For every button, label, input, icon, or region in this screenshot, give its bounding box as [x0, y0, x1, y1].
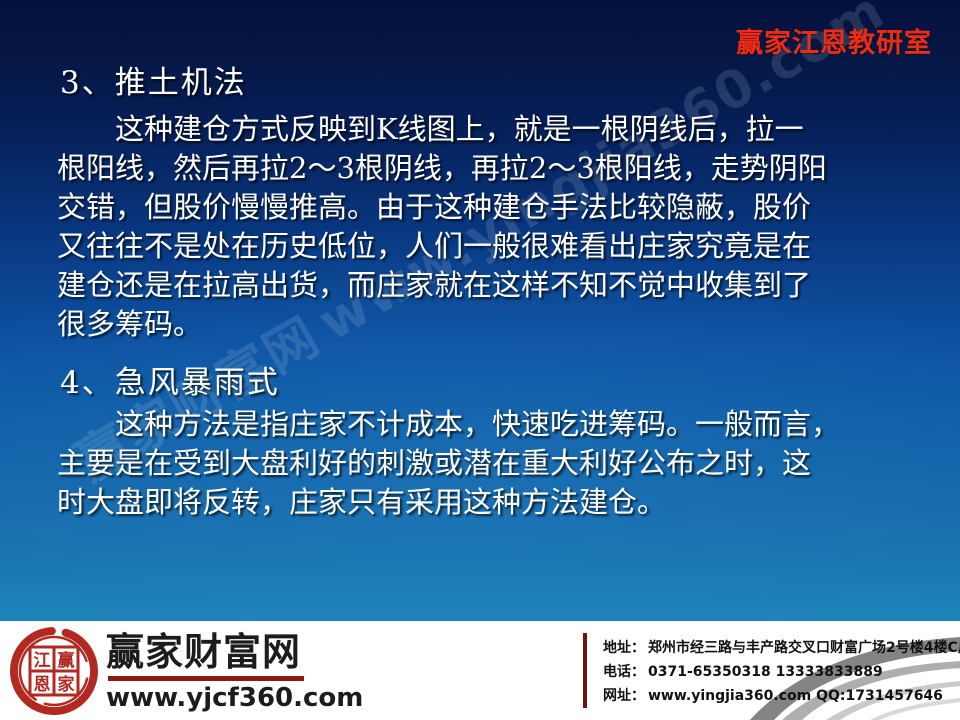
- contact-value[interactable]: www.yingjia360.com QQ:1731457646: [648, 688, 943, 704]
- paragraph-line: 根阳线，然后再拉2～3根阴线，再拉2～3根阳线，走势阴阳: [57, 149, 937, 188]
- contact-label: 电话：: [603, 664, 645, 680]
- slide: 赢家财富网www.yingjia360.com 赢家江恩教研室 3、推土机法 这…: [0, 0, 960, 720]
- section-paragraph-4: 这种方法是指庄家不计成本，快速吃进筹码。一般而言， 主要是在受到大盘利好的刺激或…: [57, 405, 937, 522]
- contact-row-website: 网址：www.yingjia360.com QQ:1731457646: [603, 684, 960, 708]
- contact-label: 地址：: [603, 640, 645, 656]
- section-paragraph-3: 这种建仓方式反映到K线图上，就是一根阴线后，拉一 根阳线，然后再拉2～3根阴线，…: [57, 110, 937, 344]
- content-panel: 赢家财富网www.yingjia360.com 赢家江恩教研室 3、推土机法 这…: [0, 0, 960, 621]
- section-heading-3: 3、推土机法: [60, 57, 247, 102]
- contact-row-phone: 电话：0371-65350318 13333833889: [603, 660, 960, 684]
- company-seal-icon: 江 赢 恩 家: [8, 625, 100, 717]
- paragraph-line: 很多筹码。: [57, 305, 937, 344]
- paragraph-line: 又往往不是处在历史低位，人们一般很难看出庄家究竟是在: [57, 227, 937, 266]
- section-heading-4: 4、急风暴雨式: [60, 357, 280, 402]
- svg-text:江: 江: [34, 651, 51, 671]
- contact-label: 网址：: [603, 688, 645, 704]
- brand-name: 赢家财富网: [106, 630, 363, 674]
- paragraph-line: 这种建仓方式反映到K线图上，就是一根阴线后，拉一: [57, 110, 937, 149]
- paragraph-line: 时大盘即将反转，庄家只有采用这种方法建仓。: [57, 483, 937, 522]
- contact-divider: [583, 633, 587, 708]
- contact-value: 0371-65350318 13333833889: [648, 664, 883, 680]
- brand-divider: [108, 676, 304, 681]
- contact-lines: 地址：郑州市经三路与丰产路交叉口财富广场2号楼4楼C户 电话：0371-6535…: [603, 633, 960, 708]
- contact-block: 地址：郑州市经三路与丰产路交叉口财富广场2号楼4楼C户 电话：0371-6535…: [583, 633, 960, 708]
- footer: 江 赢 恩 家 赢家财富网 www.yjcf360.com 地址：郑州市经三路与…: [0, 621, 960, 720]
- paragraph-line: 主要是在受到大盘利好的刺激或潜在重大利好公布之时，这: [57, 444, 937, 483]
- header-title: 赢家江恩教研室: [736, 21, 932, 60]
- svg-text:恩: 恩: [34, 675, 51, 695]
- brand-text-block: 赢家财富网 www.yjcf360.com: [106, 630, 363, 713]
- brand-block: 江 赢 恩 家 赢家财富网 www.yjcf360.com: [8, 625, 363, 717]
- contact-value: 郑州市经三路与丰产路交叉口财富广场2号楼4楼C户: [648, 640, 960, 656]
- svg-text:赢: 赢: [58, 650, 75, 671]
- brand-url[interactable]: www.yjcf360.com: [106, 683, 363, 713]
- paragraph-line: 这种方法是指庄家不计成本，快速吃进筹码。一般而言，: [57, 405, 937, 444]
- paragraph-line: 建仓还是在拉高出货，而庄家就在这样不知不觉中收集到了: [57, 266, 937, 305]
- svg-text:家: 家: [58, 674, 75, 695]
- paragraph-line: 交错，但股价慢慢推高。由于这种建仓手法比较隐蔽，股价: [57, 188, 937, 227]
- contact-row-address: 地址：郑州市经三路与丰产路交叉口财富广场2号楼4楼C户: [603, 636, 960, 660]
